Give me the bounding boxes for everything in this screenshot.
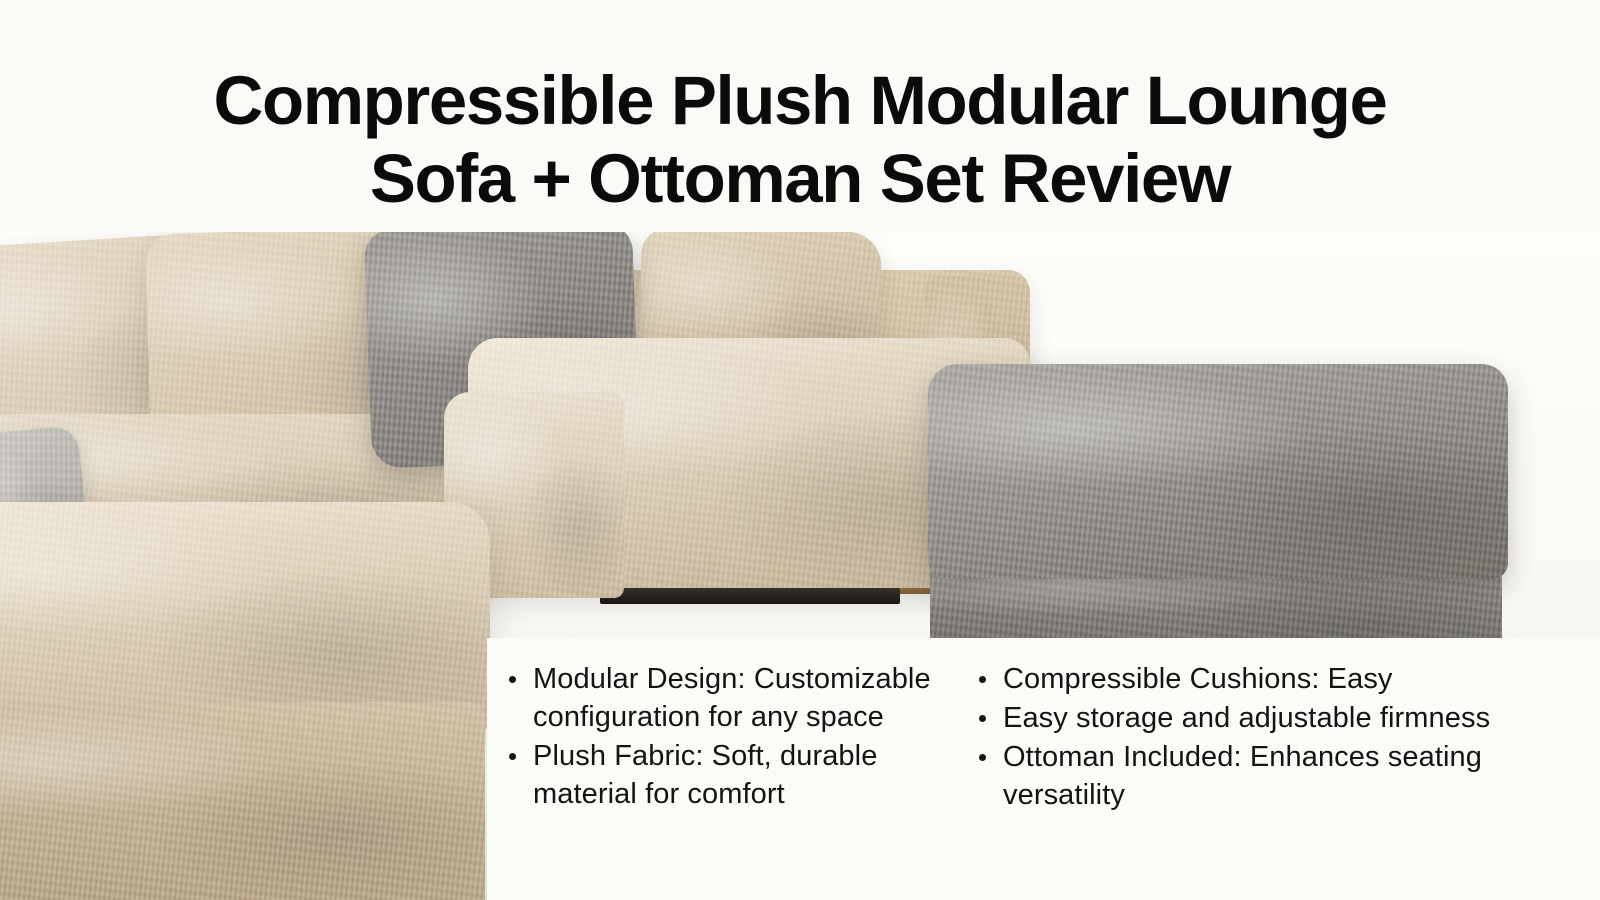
title-line-1: Compressible Plush Modular Lounge: [0, 62, 1600, 140]
page-title: Compressible Plush Modular Lounge Sofa +…: [0, 62, 1600, 218]
bullet-dot-icon: [509, 753, 516, 760]
title-line-2: Sofa + Ottoman Set Review: [0, 140, 1600, 218]
bullet-dot-icon: [979, 754, 986, 761]
feature-text: Compressible Cushions: Easy: [1003, 663, 1393, 695]
feature-text: Ottoman Included: Enhances seating versa…: [1003, 741, 1482, 811]
sofa-foot-right: [600, 588, 900, 604]
bullet-dot-icon: [509, 676, 516, 683]
list-item: Compressible Cushions: Easy: [969, 660, 1589, 698]
features-panel: Modular Design: Customizable configurati…: [487, 638, 1600, 900]
features-column-left: Modular Design: Customizable configurati…: [487, 660, 969, 900]
feature-text: Modular Design: Customizable configurati…: [533, 663, 931, 733]
features-list-left: Modular Design: Customizable configurati…: [499, 660, 969, 813]
chaise-front-panel: [0, 702, 485, 900]
list-item: Modular Design: Customizable configurati…: [499, 660, 969, 736]
infographic-stage: Compressible Plush Modular Lounge Sofa +…: [0, 0, 1600, 900]
bullet-dot-icon: [979, 715, 986, 722]
list-item: Plush Fabric: Soft, durable material for…: [499, 737, 969, 813]
feature-text: Easy storage and adjustable firmness: [1003, 702, 1490, 734]
chaise-seat-cushion: [0, 502, 490, 732]
list-item: Ottoman Included: Enhances seating versa…: [969, 738, 1589, 814]
features-list-right: Compressible Cushions: Easy Easy storage…: [969, 660, 1589, 814]
bullet-dot-icon: [979, 676, 986, 683]
ottoman-cushion: [928, 364, 1508, 579]
features-column-right: Compressible Cushions: Easy Easy storage…: [969, 660, 1589, 900]
feature-text: Plush Fabric: Soft, durable material for…: [533, 740, 877, 810]
list-item: Easy storage and adjustable firmness: [969, 699, 1589, 737]
